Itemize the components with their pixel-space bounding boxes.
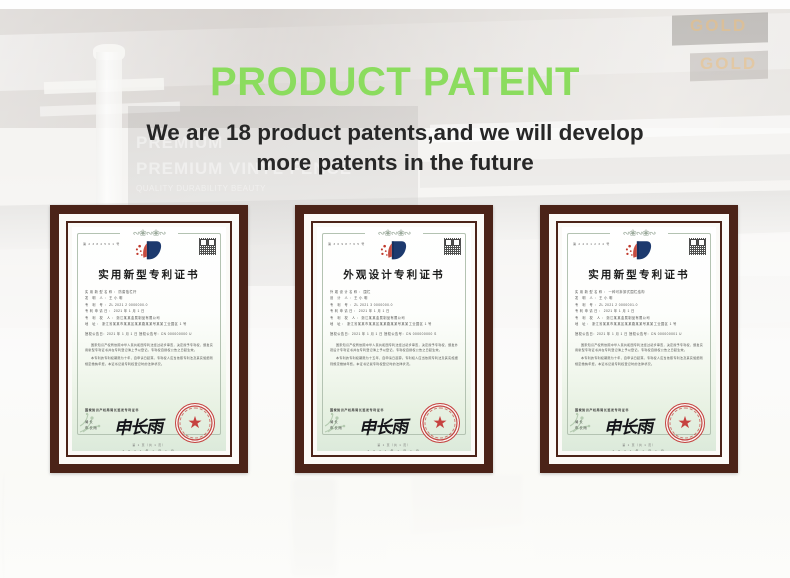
official-red-seal-icon-2 (420, 403, 460, 443)
product-patent-banner: PREMIUM PREMIUM VINYL FENCE Quality Dura… (0, 0, 790, 578)
certificate-corner-ornament-3 (568, 408, 598, 434)
certificate-field-row: 地 址：浙江省某某市某某区某某路某某号某某工业园区 1 号 (575, 321, 703, 327)
official-red-seal-icon-3 (665, 403, 705, 443)
certificate-paragraph: 本专利的专利权期限为十年，自申请日起算。专利权人应当依照专利法及其实施细则规定缴… (575, 356, 703, 367)
blurred-person (292, 478, 336, 576)
certificate-fields-2: 外观设计名称：围栏 设 计 人：王 小 明 专 利 号：ZL 2021 3 00… (330, 289, 458, 367)
page-subtitle-line-1: We are 18 product patents,and we will de… (0, 118, 790, 148)
certificate-grant-line-1: 授权公告日：2021 年 1 月 1 日 授权公告号：CN 000000000 … (85, 331, 213, 337)
frame-inner-line-3: ∾❀∾❀∾ 第 2 4 0 1 2 3 4 号 (556, 221, 722, 457)
certificate-date-3: 2 0 2 1 年 1 月 1 日 (562, 449, 716, 451)
page-subtitle-line-2: more patents in the future (0, 148, 790, 178)
hanging-wire (2, 474, 8, 578)
certificate-frame-3[interactable]: ∾❀∾❀∾ 第 2 4 0 1 2 3 4 号 (540, 205, 738, 473)
seal-emblem (677, 415, 694, 432)
seal-emblem (187, 415, 204, 432)
page-title: PRODUCT PATENT (0, 62, 790, 102)
certificate-paragraph: 本专利的专利权期限为十年，自申请日起算。专利权人应当依照专利法及其实施细则规定缴… (85, 356, 213, 367)
certificate-title-1: 实用新型专利证书 (72, 267, 226, 282)
frame-mat-2: ∾❀∾❀∾ 第 3 0 9 8 7 6 5 号 (304, 214, 484, 464)
certificate-footer-2: 第 1 页（共 1 页） (317, 443, 471, 447)
certificate-signature-3: 申长雨 (604, 412, 653, 439)
patent-certificate-1: ∾❀∾❀∾ 第 2 3 8 4 5 6 1 号 (72, 227, 226, 451)
qr-code-icon-1 (199, 238, 216, 255)
frame-inner-line-2: ∾❀∾❀∾ 第 3 0 9 8 7 6 5 号 (311, 221, 477, 457)
certificate-paragraph: 国家知识产权局依照中华人民共和国专利法经过初步审查，决定授予专利权，颁发实用新型… (85, 343, 213, 354)
headings-block: PRODUCT PATENT We are 18 product patents… (0, 62, 790, 178)
top-white-strip (0, 0, 790, 9)
certificate-fields-1: 实用新型名称：防腐蚀栏杆 发 明 人：王 小 明 专 利 号：ZL 2021 2… (85, 289, 213, 367)
seal-emblem (432, 415, 449, 432)
frame-mat-1: ∾❀∾❀∾ 第 2 3 8 4 5 6 1 号 (59, 214, 239, 464)
certificate-footer-3: 第 1 页（共 1 页） (562, 443, 716, 447)
certificate-date-2: 2 0 2 1 年 1 月 1 日 (317, 449, 471, 451)
patent-certificate-3: ∾❀∾❀∾ 第 2 4 0 1 2 3 4 号 (562, 227, 716, 451)
certificate-number-2: 第 3 0 9 8 7 6 5 号 (328, 241, 365, 246)
certificate-paragraph: 国家知识产权局依照中华人民共和国专利法经过初步审查，决定授予专利权，颁发实用新型… (575, 343, 703, 354)
frame-mat-3: ∾❀∾❀∾ 第 2 4 0 1 2 3 4 号 (549, 214, 729, 464)
patent-certificate-2: ∾❀∾❀∾ 第 3 0 9 8 7 6 5 号 (317, 227, 471, 451)
certificate-corner-ornament-1 (78, 408, 108, 434)
official-red-seal-icon-1 (175, 403, 215, 443)
certificate-footer-1: 第 1 页（共 1 页） (72, 443, 226, 447)
certificate-paragraph: 本专利的专利权期限为十五年，自申请日起算。专利权人应当依照专利法及其实施细则规定… (330, 356, 458, 367)
certificate-title-2: 外观设计专利证书 (317, 267, 471, 282)
certificate-number-1: 第 2 3 8 4 5 6 1 号 (83, 241, 120, 246)
booth-sign-text-1: GOLD (690, 16, 747, 36)
certificate-field-row: 地 址：浙江省某某市某某区某某路某某号某某工业园区 1 号 (85, 321, 213, 327)
certificate-number-3: 第 2 4 0 1 2 3 4 号 (573, 241, 610, 246)
cnipa-emblem-icon-1 (132, 239, 166, 261)
frame-inner-line-1: ∾❀∾❀∾ 第 2 3 8 4 5 6 1 号 (66, 221, 232, 457)
qr-code-icon-2 (444, 238, 461, 255)
certificate-field-row: 地 址：浙江省某某市某某区某某路某某号某某工业园区 1 号 (330, 321, 458, 327)
certificate-corner-ornament-2 (323, 408, 353, 434)
certificate-signature-2: 申长雨 (359, 412, 408, 439)
certificate-frame-2[interactable]: ∾❀∾❀∾ 第 3 0 9 8 7 6 5 号 (295, 205, 493, 473)
booth-poster-line3: Quality Durability Beauty (136, 183, 386, 195)
cnipa-emblem-icon-2 (377, 239, 411, 261)
certificate-signature-1: 申长雨 (114, 412, 163, 439)
certificate-fields-3: 实用新型名称：一种可拆卸式围栏结构 发 明 人：王 小 明 专 利 号：ZL 2… (575, 289, 703, 367)
certificate-paragraph: 国家知识产权局依照中华人民共和国专利法经过初步审查，决定授予专利权，颁发外观设计… (330, 343, 458, 354)
certificate-title-3: 实用新型专利证书 (562, 267, 716, 282)
page-subtitle: We are 18 product patents,and we will de… (0, 118, 790, 178)
certificate-grant-line-3: 授权公告日：2021 年 1 月 1 日 授权公告号：CN 000000001 … (575, 331, 703, 337)
qr-code-icon-3 (689, 238, 706, 255)
cnipa-emblem-icon-3 (622, 239, 656, 261)
certificate-frame-1[interactable]: ∾❀∾❀∾ 第 2 3 8 4 5 6 1 号 (50, 205, 248, 473)
certificate-date-1: 2 0 2 1 年 1 月 1 日 (72, 449, 226, 451)
certificate-grant-line-2: 授权公告日：2021 年 1 月 1 日 授权公告号：CN 000000000 … (330, 331, 458, 337)
certificate-gallery: ∾❀∾❀∾ 第 2 3 8 4 5 6 1 号 (0, 205, 790, 475)
